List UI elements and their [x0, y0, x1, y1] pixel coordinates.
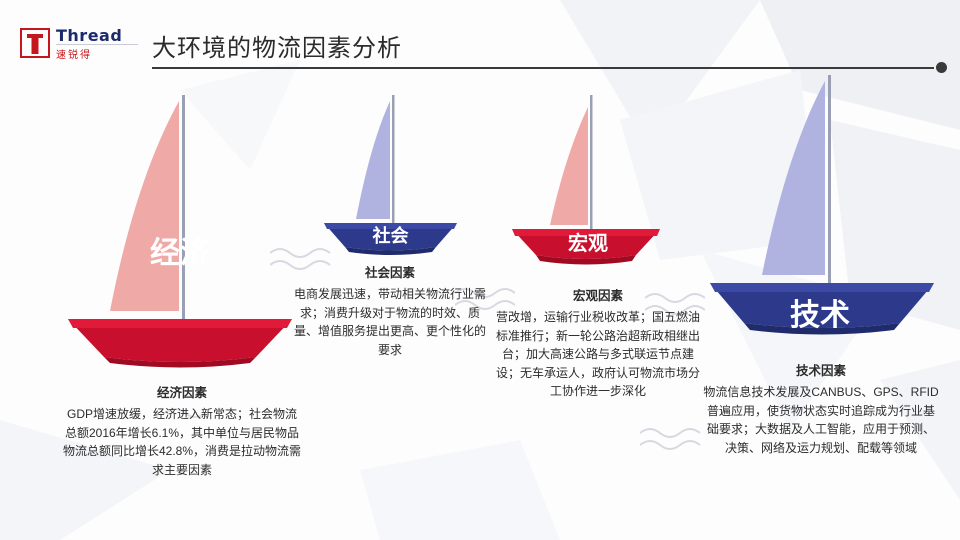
boat-label-macro: 宏观 — [508, 227, 668, 256]
logo-icon — [20, 28, 50, 58]
boat-label-society: 社会 — [318, 222, 463, 248]
boat-technology[interactable]: 技术 — [700, 75, 940, 340]
caption-title-technology: 技术因素 — [702, 360, 940, 379]
boat-label-economy: 经济 — [60, 228, 300, 272]
caption-body-economy: GDP增速放缓，经济进入新常态；社会物流总额2016年增长6.1%，其中单位与居… — [62, 405, 302, 479]
logo-divider — [56, 44, 138, 45]
logo: Thread 速锐得 — [20, 26, 140, 70]
title-end-dot — [936, 62, 947, 73]
caption-economy: 经济因素 GDP增速放缓，经济进入新常态；社会物流总额2016年增长6.1%，其… — [62, 382, 302, 479]
caption-title-society: 社会因素 — [290, 262, 490, 281]
caption-body-technology: 物流信息技术发展及CANBUS、GPS、RFID普遍应用，使货物状态实时追踪成为… — [702, 383, 940, 457]
boat-label-technology: 技术 — [700, 290, 940, 334]
boat-economy[interactable]: 经济 — [60, 95, 300, 370]
caption-body-society: 电商发展迅速，带动相关物流行业需求；消费升级对于物流的时效、质量、增值服务提出更… — [290, 285, 490, 359]
wave-decoration-4 — [640, 425, 710, 455]
caption-macro: 宏观因素 营改增，运输行业税收改革；国五燃油标准推行；新一轮公路治超新政相继出台… — [492, 285, 704, 401]
title-divider — [152, 67, 934, 69]
logo-text: Thread — [56, 26, 122, 45]
boat-macro[interactable]: 宏观 — [508, 95, 668, 275]
caption-society: 社会因素 电商发展迅速，带动相关物流行业需求；消费升级对于物流的时效、质量、增值… — [290, 262, 490, 359]
caption-title-economy: 经济因素 — [62, 382, 302, 401]
boat-society[interactable]: 社会 — [318, 95, 463, 255]
caption-technology: 技术因素 物流信息技术发展及CANBUS、GPS、RFID普遍应用，使货物状态实… — [702, 360, 940, 457]
caption-body-macro: 营改增，运输行业税收改革；国五燃油标准推行；新一轮公路治超新政相继出台；加大高速… — [492, 308, 704, 401]
slide: Thread 速锐得 大环境的物流因素分析 — [0, 0, 960, 540]
page-title: 大环境的物流因素分析 — [152, 28, 402, 63]
caption-title-macro: 宏观因素 — [492, 285, 704, 304]
logo-subtext: 速锐得 — [56, 46, 92, 61]
